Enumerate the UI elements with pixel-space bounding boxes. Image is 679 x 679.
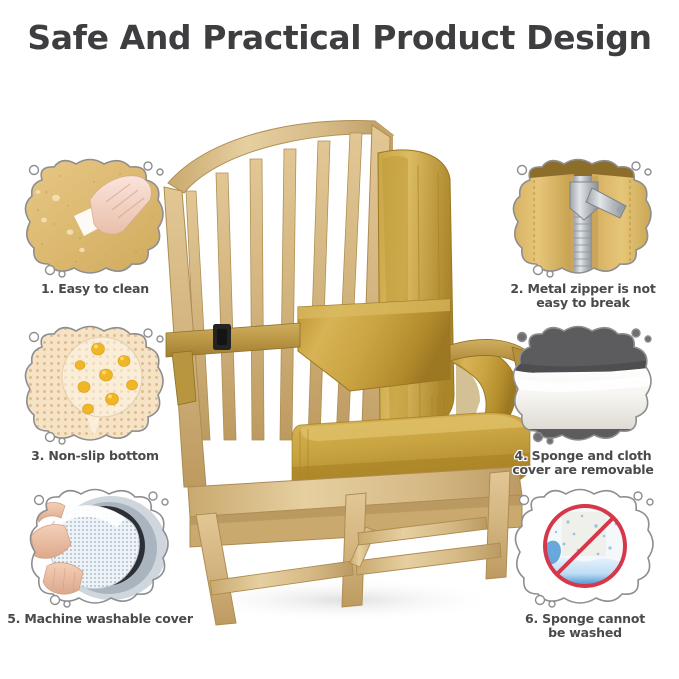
bubble-frame-1: [20, 158, 170, 278]
callout-1-art: [20, 158, 170, 278]
callout-2-art: [508, 158, 658, 278]
bubble-frame-3: [20, 325, 170, 445]
callout-4-caption: 4. Sponge and cloth cover are removable: [498, 449, 668, 478]
cushion-left-panel: [508, 174, 574, 278]
callout-4-line-2: cover are removable: [498, 463, 668, 477]
callout-6-caption: 6. Sponge cannot be washed: [500, 612, 670, 641]
bubble-frame-5: [25, 488, 175, 608]
bubble-inner-bottom: [508, 429, 658, 445]
callout-1-line-1: 1. Easy to clean: [10, 282, 180, 296]
callout-5-caption: 5. Machine washable cover: [5, 612, 195, 626]
chair-back-spindles: [186, 133, 362, 440]
callout-5-art: [25, 488, 175, 608]
callout-4-art: [508, 325, 658, 445]
callout-2-metal-zipper: 2. Metal zipper is not easy to break: [498, 158, 668, 311]
infographic-page: Safe And Practical Product Design: [0, 0, 679, 679]
bubble-frame-2: [508, 158, 658, 278]
bubble-frame-4: [508, 325, 658, 445]
callout-3-caption: 3. Non-slip bottom: [10, 449, 180, 463]
page-title: Safe And Practical Product Design: [0, 18, 679, 57]
callout-3-non-slip-bottom: 3. Non-slip bottom: [10, 325, 180, 463]
callout-1-easy-to-clean: 1. Easy to clean: [10, 158, 180, 296]
callout-3-line-1: 3. Non-slip bottom: [10, 449, 180, 463]
callout-1-caption: 1. Easy to clean: [10, 282, 180, 296]
callout-5-machine-washable-cover: 5. Machine washable cover: [5, 488, 195, 626]
bubble-frame-6: [510, 488, 660, 608]
chair-stretcher-right: [356, 543, 501, 575]
strap-buckle-slot: [217, 329, 227, 345]
callout-4-sponge-and-cover: 4. Sponge and cloth cover are removable: [498, 325, 668, 478]
callout-2-caption: 2. Metal zipper is not easy to break: [498, 282, 668, 311]
product-image-booster-seat-on-chair: [150, 95, 540, 635]
hand-right-icon: [43, 563, 83, 595]
callout-2-line-2: easy to break: [498, 296, 668, 310]
zipper-pull-hole: [617, 207, 623, 213]
callout-5-line-1: 5. Machine washable cover: [5, 612, 195, 626]
callout-6-art: [510, 488, 660, 608]
callout-6-line-2: be washed: [500, 626, 670, 640]
callout-3-art: [20, 325, 170, 445]
callout-6-sponge-cannot-be-washed: 6. Sponge cannot be washed: [500, 488, 670, 641]
